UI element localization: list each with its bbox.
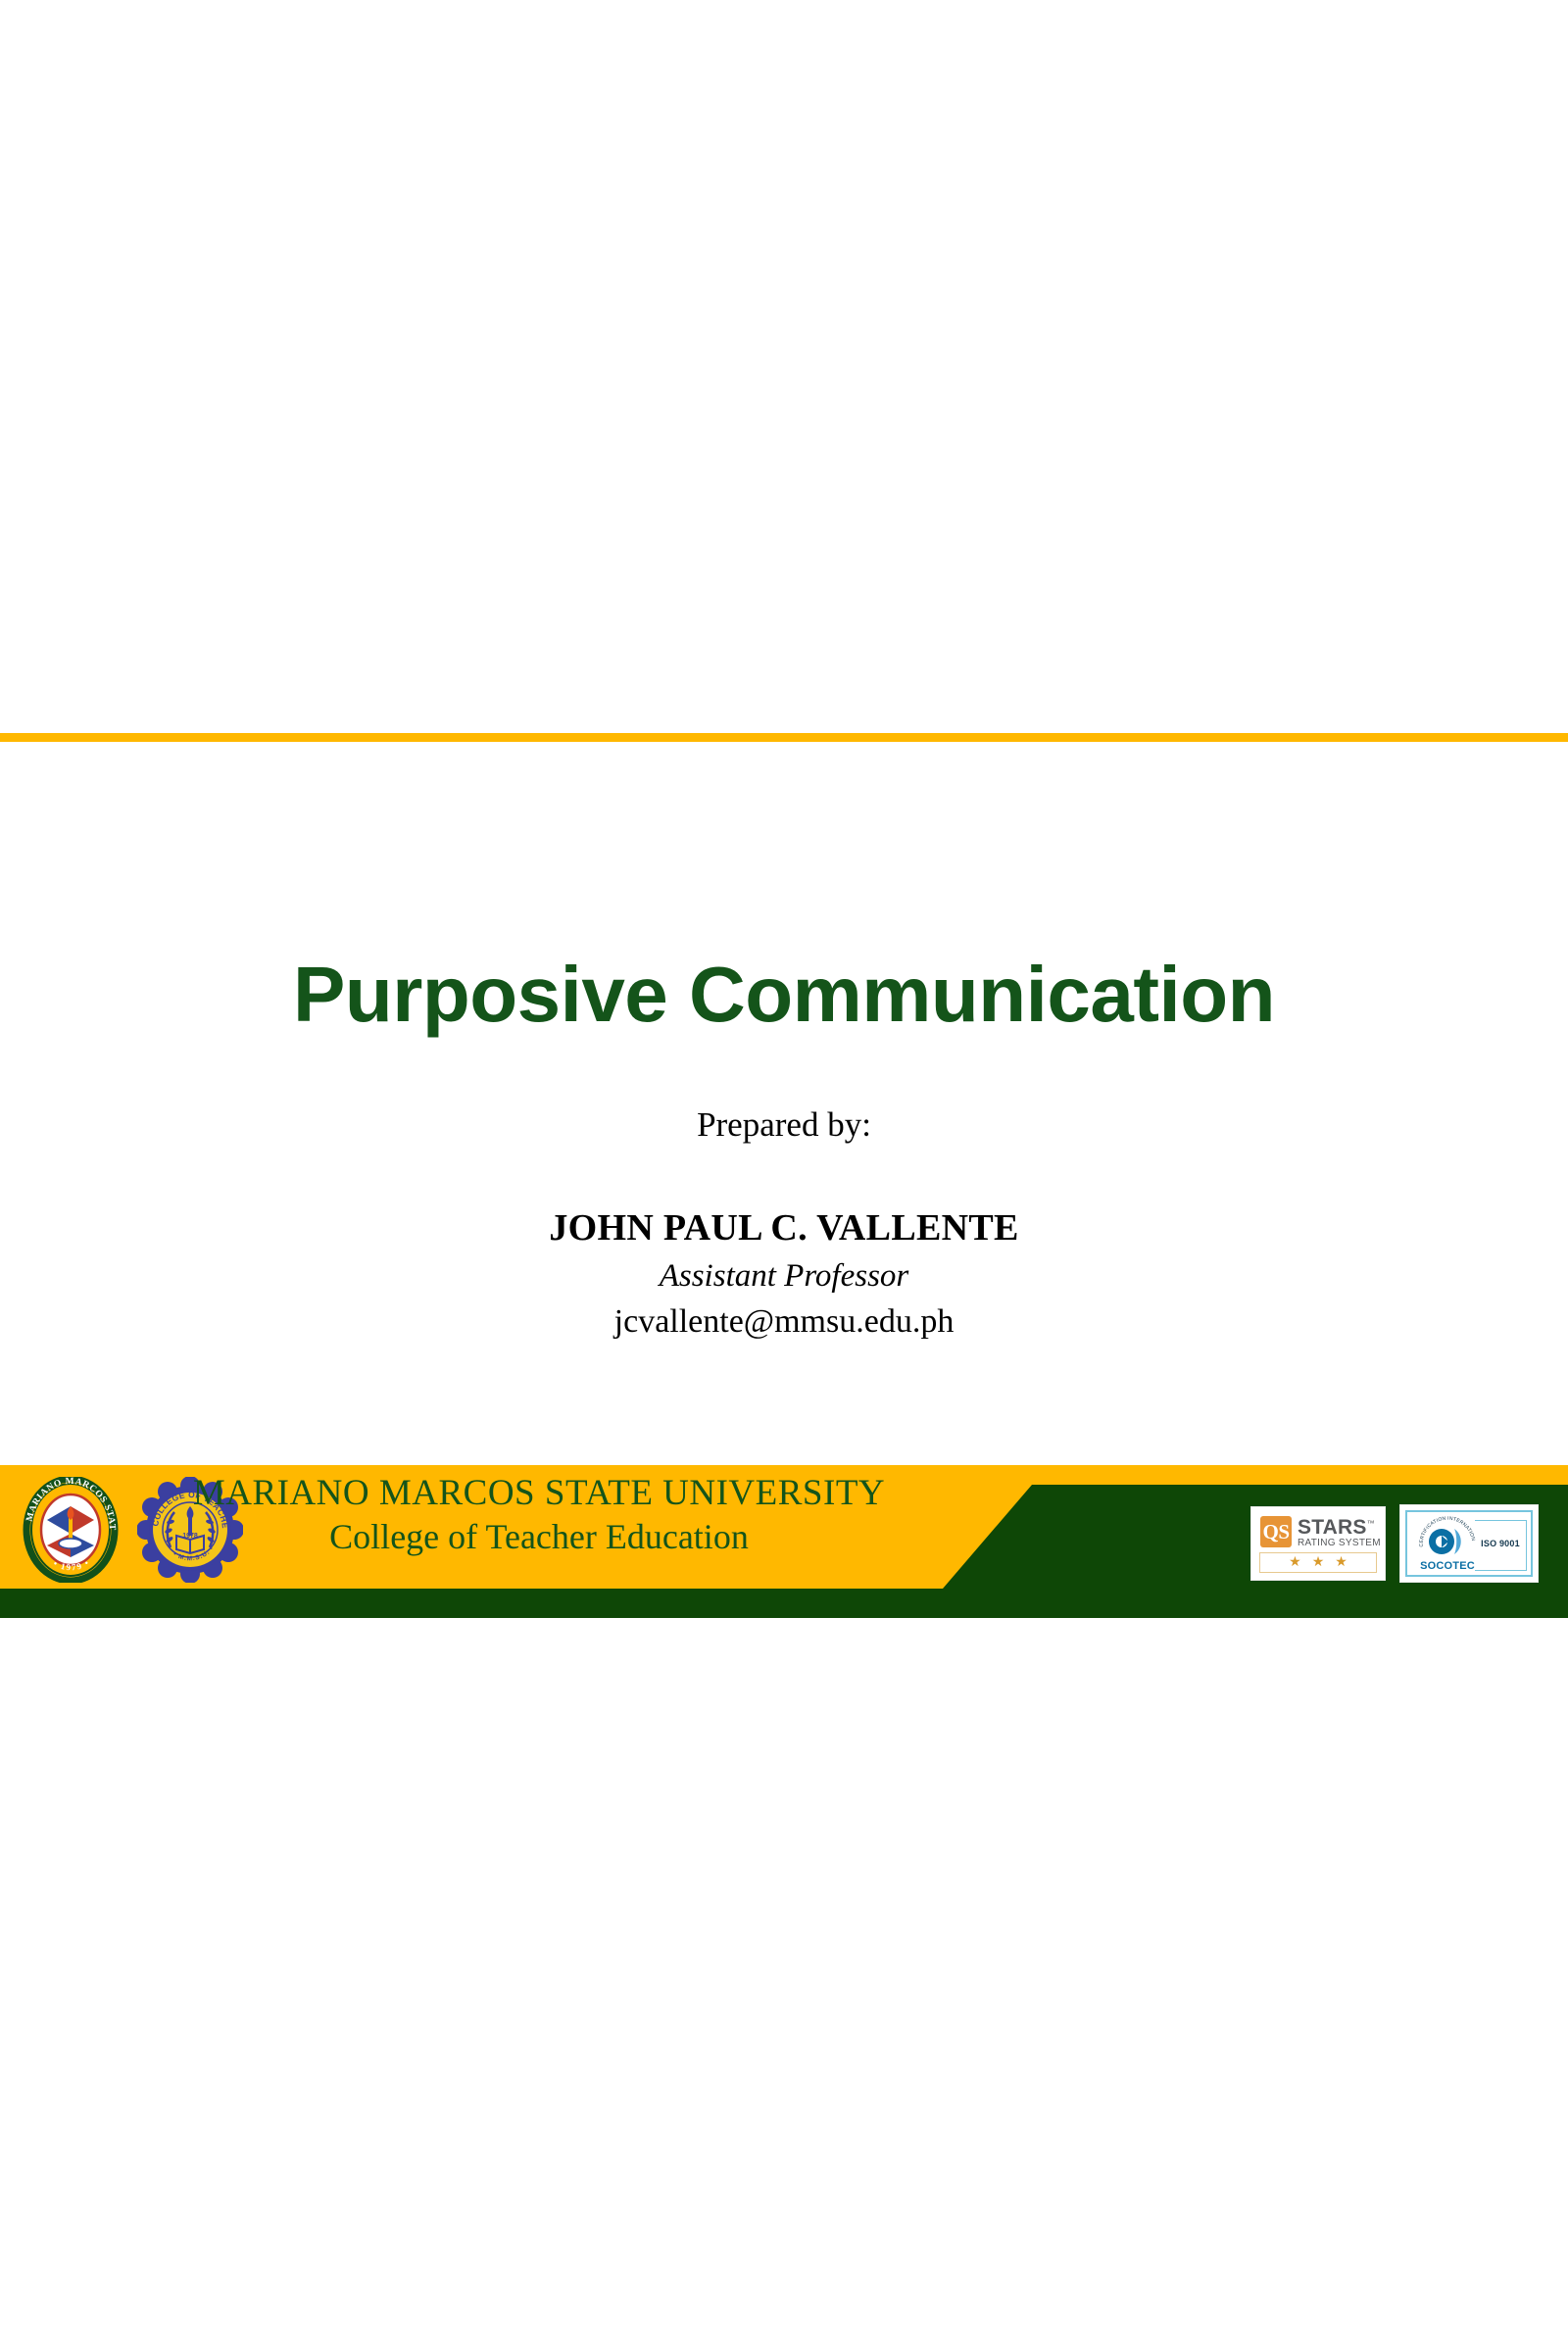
footer-wordmark: MARIANO MARCOS STATE UNIVERSITY College …	[186, 1475, 892, 1554]
qs-wordmark: STARS™ RATING SYSTEM	[1298, 1514, 1381, 1549]
title-block: Purposive Communication	[0, 955, 1568, 1034]
college-name: College of Teacher Education	[186, 1519, 892, 1554]
iso-frame: CERTIFICATION INTERNATIONAL SOCOTEC ISO …	[1405, 1510, 1533, 1577]
qs-stars-logo: QS STARS™ RATING SYSTEM ★ ★ ★	[1250, 1506, 1386, 1581]
prepared-by-label: Prepared by:	[0, 1107, 1568, 1142]
qs-mark: QS	[1260, 1516, 1292, 1547]
iso-standard-panel: ISO 9001	[1475, 1520, 1527, 1571]
author-rank: Assistant Professor	[0, 1260, 1568, 1293]
socotec-circle-icon: CERTIFICATION INTERNATIONAL	[1411, 1515, 1484, 1560]
socotec-mark-area: CERTIFICATION INTERNATIONAL SOCOTEC	[1411, 1515, 1484, 1574]
byline-block: Prepared by: JOHN PAUL C. VALLENTE Assis…	[0, 1107, 1568, 1339]
footer-banner: MARIANO MARCOS STATE UNIVERSITY • 1979 •	[0, 1465, 1568, 1618]
author-email: jcvallente@mmsu.edu.ph	[0, 1305, 1568, 1339]
star-icon: ★	[1312, 1556, 1325, 1570]
qs-stars-header: QS STARS™ RATING SYSTEM	[1251, 1507, 1385, 1549]
qs-rating-subtitle: RATING SYSTEM	[1298, 1538, 1381, 1549]
socotec-iso-logo: CERTIFICATION INTERNATIONAL SOCOTEC ISO …	[1399, 1504, 1539, 1583]
slide-canvas: Purposive Communication Prepared by: JOH…	[0, 0, 1568, 2352]
qs-star-rating: ★ ★ ★	[1259, 1552, 1377, 1573]
author-name: JOHN PAUL C. VALLENTE	[0, 1209, 1568, 1247]
trademark-icon: ™	[1367, 1519, 1375, 1528]
socotec-brand: SOCOTEC	[1411, 1560, 1484, 1572]
star-icon: ★	[1289, 1556, 1301, 1570]
star-icon: ★	[1335, 1556, 1347, 1570]
qs-stars-name: STARS™	[1298, 1514, 1381, 1538]
mmsu-seal-icon: MARIANO MARCOS STATE UNIVERSITY • 1979 •	[18, 1477, 123, 1588]
university-name: MARIANO MARCOS STATE UNIVERSITY	[186, 1475, 892, 1511]
iso-standard-code: ISO 9001	[1475, 1539, 1526, 1548]
gold-divider-rule	[0, 733, 1568, 742]
page-title: Purposive Communication	[0, 955, 1568, 1034]
qs-stars-label: STARS	[1298, 1516, 1367, 1539]
